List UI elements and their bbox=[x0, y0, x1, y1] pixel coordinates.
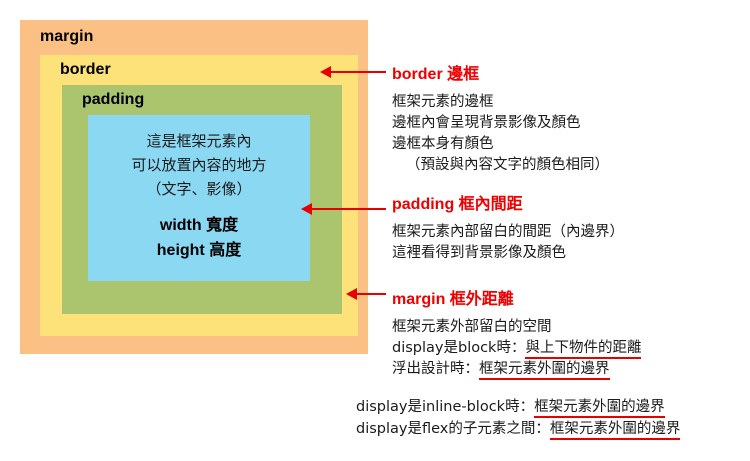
annotation-margin-line-2: display是block時：與上下物件的距離 bbox=[392, 338, 641, 359]
footer-line-2-prefix: display是flex的子元素之間： bbox=[356, 421, 550, 437]
annotation-border-body: 框架元素的邊框 邊框內會呈現背景影像及顏色 邊框本身有顏色 （預設與內容文字的顏… bbox=[392, 92, 609, 176]
content-width-label: width 寬度 bbox=[88, 213, 310, 238]
content-line-3: （文字、影像） bbox=[88, 177, 310, 201]
annotation-margin-line-3-emphasis: 框架元素外圍的邊界 bbox=[479, 361, 610, 380]
annotation-margin-line-3-prefix: 浮出設計時： bbox=[392, 361, 479, 377]
margin-box-label: margin bbox=[40, 28, 93, 46]
annotation-border-line-3: 邊框本身有顏色 bbox=[392, 134, 609, 155]
annotation-margin-line-1: 框架元素外部留白的空間 bbox=[392, 317, 641, 338]
annotation-border-line-4: （預設與內容文字的顏色相同） bbox=[392, 155, 609, 176]
border-box: border padding 這是框架元素內 可以放置內容的地方 （文字、影像）… bbox=[40, 55, 358, 336]
annotation-margin-line-2-prefix: display是block時： bbox=[392, 340, 525, 356]
annotation-margin-title: margin 框外距離 bbox=[392, 285, 641, 309]
annotation-padding: padding 框內間距 框架元素內部留白的間距（內邊界） 這裡看得到背景影像及… bbox=[392, 190, 624, 264]
annotation-margin-line-2-emphasis: 與上下物件的距離 bbox=[525, 340, 641, 359]
footer-notes: display是inline-block時：框架元素外圍的邊界 display是… bbox=[356, 396, 680, 440]
annotation-margin-body: 框架元素外部留白的空間 display是block時：與上下物件的距離 浮出設計… bbox=[392, 317, 641, 380]
footer-line-2: display是flex的子元素之間：框架元素外圍的邊界 bbox=[356, 418, 680, 440]
margin-box: margin border padding 這是框架元素內 可以放置內容的地方 … bbox=[20, 20, 368, 354]
content-height-label: height 高度 bbox=[88, 238, 310, 263]
annotation-margin: margin 框外距離 框架元素外部留白的空間 display是block時：與… bbox=[392, 285, 641, 380]
footer-line-1: display是inline-block時：框架元素外圍的邊界 bbox=[356, 396, 680, 418]
content-box-dimensions: width 寬度 height 高度 bbox=[88, 213, 310, 263]
annotation-padding-line-2: 這裡看得到背景影像及顏色 bbox=[392, 243, 624, 264]
footer-line-1-emphasis: 框架元素外圍的邊界 bbox=[534, 399, 665, 418]
content-line-2: 可以放置內容的地方 bbox=[88, 153, 310, 177]
padding-box-label: padding bbox=[82, 91, 144, 109]
padding-box: padding 這是框架元素內 可以放置內容的地方 （文字、影像） width … bbox=[62, 85, 342, 314]
annotation-border: border 邊框 框架元素的邊框 邊框內會呈現背景影像及顏色 邊框本身有顏色 … bbox=[392, 60, 609, 176]
annotation-padding-title: padding 框內間距 bbox=[392, 190, 624, 214]
annotation-margin-line-3: 浮出設計時：框架元素外圍的邊界 bbox=[392, 359, 641, 380]
annotation-padding-body: 框架元素內部留白的間距（內邊界） 這裡看得到背景影像及顏色 bbox=[392, 222, 624, 264]
footer-line-1-prefix: display是inline-block時： bbox=[356, 399, 534, 415]
annotation-border-title: border 邊框 bbox=[392, 60, 609, 84]
content-box: 這是框架元素內 可以放置內容的地方 （文字、影像） width 寬度 heigh… bbox=[88, 115, 310, 281]
annotation-border-line-2: 邊框內會呈現背景影像及顏色 bbox=[392, 113, 609, 134]
annotation-border-line-1: 框架元素的邊框 bbox=[392, 92, 609, 113]
box-model-diagram-page: margin border padding 這是框架元素內 可以放置內容的地方 … bbox=[0, 0, 750, 461]
content-line-1: 這是框架元素內 bbox=[88, 129, 310, 153]
content-box-description: 這是框架元素內 可以放置內容的地方 （文字、影像） bbox=[88, 129, 310, 201]
annotation-padding-line-1: 框架元素內部留白的間距（內邊界） bbox=[392, 222, 624, 243]
border-box-label: border bbox=[60, 61, 111, 79]
footer-line-2-emphasis: 框架元素外圍的邊界 bbox=[550, 421, 681, 440]
